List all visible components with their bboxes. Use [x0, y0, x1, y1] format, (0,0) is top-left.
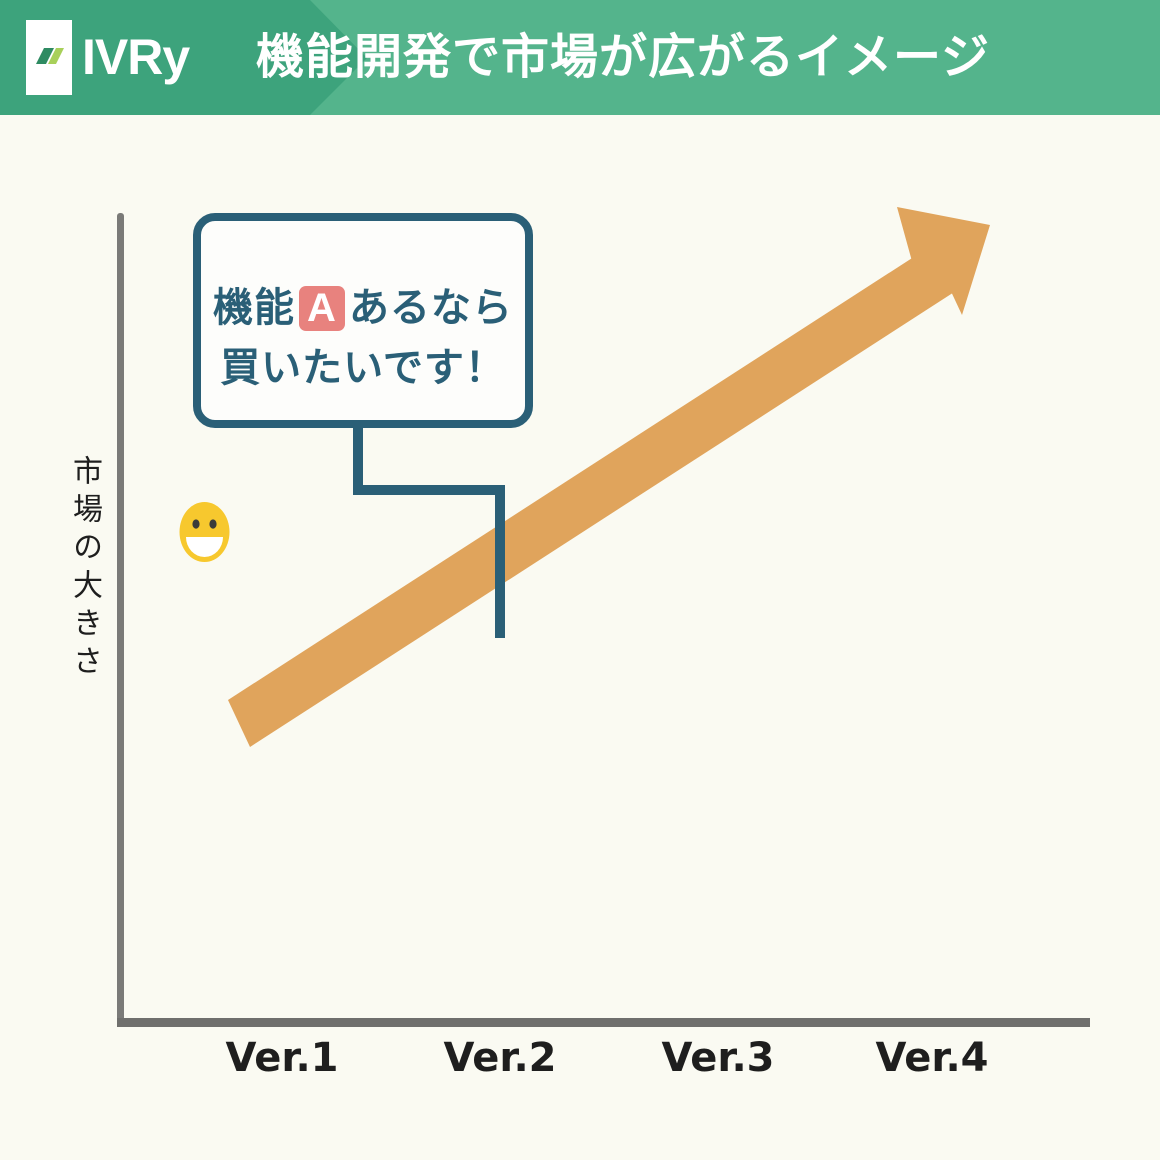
header-banner: IVRy 機能開発で市場が広がるイメージ: [0, 0, 1160, 115]
x-label-ver4: Ver.4: [845, 1035, 1019, 1081]
bubble-text-suffix: あるなら: [349, 285, 513, 331]
smiley-face-icon: [178, 501, 231, 563]
ivry-slash-logo-icon: [26, 20, 72, 95]
logo-wordmark: IVRy: [82, 22, 189, 92]
feature-a-chip: A: [299, 286, 345, 331]
bubble-line-2: 買いたいです！: [201, 335, 525, 393]
bubble-line-1: 機能Aあるなら: [201, 275, 525, 333]
x-label-ver2: Ver.2: [413, 1035, 587, 1081]
page-title: 機能開発で市場が広がるイメージ: [256, 18, 990, 96]
x-axis-line: [117, 1018, 1090, 1027]
ivry-logo: [26, 20, 72, 95]
x-label-ver1: Ver.1: [195, 1035, 369, 1081]
speech-bubble: 機能Aあるなら 買いたいです！: [193, 213, 533, 428]
bubble-text-prefix: 機能: [213, 285, 295, 331]
callout-connector-line: [0, 115, 1160, 1160]
infographic-canvas: IVRy 機能開発で市場が広がるイメージ 市場の大きさ A: [0, 0, 1160, 1160]
chart-area: 市場の大きさ A B: [0, 115, 1160, 1160]
growth-trend-arrow: [0, 115, 1160, 1160]
y-axis-line: [117, 213, 124, 1025]
x-label-ver3: Ver.3: [631, 1035, 805, 1081]
y-axis-label: 市場の大きさ: [62, 455, 106, 683]
